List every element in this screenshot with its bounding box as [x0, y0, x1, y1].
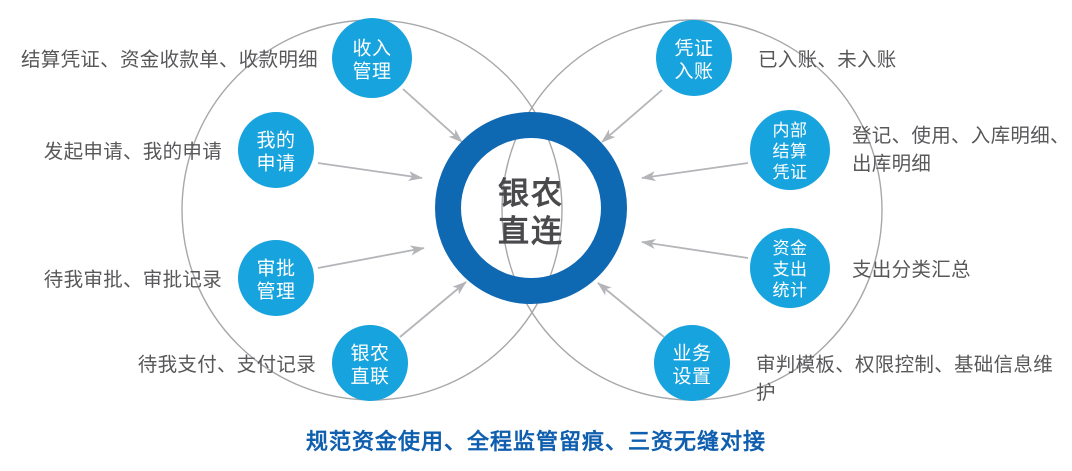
- arrow-bank-agri-direct: [400, 282, 466, 337]
- node-label-line1: 收入: [352, 38, 391, 60]
- node-label-line2: 管理: [352, 61, 391, 83]
- label-expenditure-statistics: 支出分类汇总: [852, 256, 971, 284]
- node-internal-settlement-voucher[interactable]: 内部结算凭证: [750, 110, 830, 190]
- arrow-income-management: [403, 89, 462, 142]
- node-approval-management[interactable]: 审批管理: [238, 240, 314, 316]
- diagram-canvas: 银农 直连 收入管理我的申请审批管理银农直联凭证入账内部结算凭证资金支出统计业务…: [0, 0, 1072, 471]
- node-label-line1: 凭证: [674, 38, 713, 60]
- label-internal-settlement-voucher: 登记、使用、入库明细、 出库明细: [852, 122, 1070, 178]
- label-income-management: 结算凭证、资金收款单、收款明细: [21, 46, 318, 74]
- node-income-management[interactable]: 收入管理: [332, 18, 412, 98]
- node-label-line1: 审批: [256, 258, 295, 280]
- node-label-line3: 统计: [773, 281, 808, 300]
- node-label-line1: 业务: [672, 343, 711, 365]
- arrow-my-application: [318, 163, 422, 178]
- node-label-line1: 银农: [350, 343, 389, 365]
- arrow-voucher-posting: [602, 90, 662, 142]
- hub-node[interactable]: 银农 直连: [448, 125, 614, 291]
- arrow-expenditure-statistics: [642, 242, 748, 258]
- arrow-business-settings: [598, 283, 664, 337]
- node-label-line2: 直联: [350, 366, 389, 388]
- label-approval-management: 待我审批、审批记录: [44, 266, 222, 294]
- hub-label-line2: 直连: [498, 214, 564, 249]
- node-label-line2: 支出: [773, 260, 808, 279]
- node-bank-agri-direct[interactable]: 银农直联: [332, 325, 408, 401]
- label-my-application: 发起申请、我的申请: [44, 138, 222, 166]
- node-label-line1: 内部: [773, 121, 808, 140]
- node-my-application[interactable]: 我的申请: [238, 112, 314, 188]
- arrow-internal-settlement-voucher: [642, 163, 748, 178]
- node-business-settings[interactable]: 业务设置: [654, 325, 730, 401]
- arrow-approval-management: [318, 248, 424, 268]
- node-label-line3: 凭证: [773, 163, 808, 182]
- node-label-line2: 结算: [773, 142, 808, 161]
- node-label-line2: 申请: [256, 153, 295, 175]
- node-label-line2: 设置: [672, 366, 711, 388]
- node-voucher-posting[interactable]: 凭证入账: [656, 20, 732, 96]
- node-label-line1: 资金: [773, 239, 808, 258]
- node-label-line1: 我的: [256, 130, 295, 152]
- label-business-settings: 审判模板、权限控制、基础信息维护: [756, 351, 1072, 407]
- label-bank-agri-direct: 待我支付、支付记录: [138, 351, 316, 379]
- label-voucher-posting: 已入账、未入账: [758, 46, 897, 74]
- node-label-line2: 管理: [256, 281, 295, 303]
- hub-label-line1: 银农: [498, 176, 564, 211]
- node-expenditure-statistics[interactable]: 资金支出统计: [750, 228, 830, 308]
- node-label-line2: 入账: [674, 61, 713, 83]
- diagram-caption: 规范资金使用、全程监管留痕、三资无缝对接: [0, 424, 1072, 456]
